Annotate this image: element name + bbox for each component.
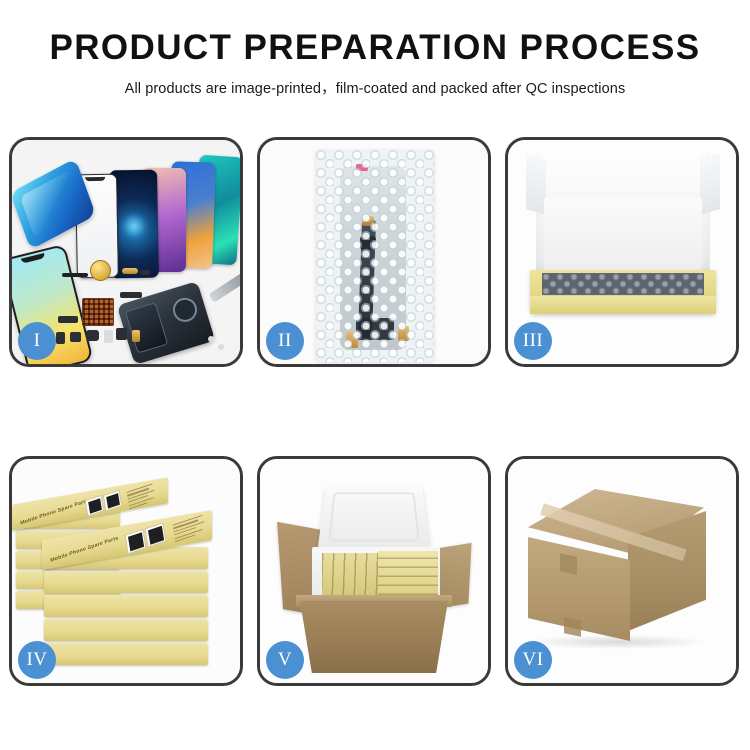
step-badge-1: I	[18, 322, 56, 360]
part-gold-flex	[122, 268, 138, 274]
stacked-box-r4	[44, 619, 208, 641]
carton-tab-lower	[564, 617, 581, 637]
part-sim-tray	[104, 330, 113, 343]
part-gold-pin	[132, 330, 140, 342]
bubble-wrap-bag	[316, 150, 434, 362]
part-power-flex	[58, 316, 78, 323]
box-spec-lines-back	[127, 482, 160, 511]
white-foam-pad	[544, 198, 702, 276]
step-3-image: III	[508, 140, 736, 364]
step-panel-2[interactable]: II	[257, 137, 491, 367]
step-panel-5[interactable]: V	[257, 456, 491, 686]
step-panel-1[interactable]: I	[9, 137, 243, 367]
step-panel-3[interactable]: III	[505, 137, 739, 367]
part-vibrator	[116, 328, 127, 340]
step-2-image: II	[260, 140, 488, 364]
carton-body	[300, 601, 448, 673]
part-chip-a	[56, 332, 65, 344]
box-artwork-c	[125, 529, 147, 554]
bubble-texture	[316, 150, 434, 362]
stacked-box-r3	[44, 595, 208, 617]
step-6-image: VI	[508, 459, 736, 683]
step-badge-4: IV	[18, 641, 56, 679]
tray-front-lip	[530, 296, 716, 314]
stacked-box-r5	[44, 643, 208, 665]
steps-grid: I II	[9, 137, 745, 686]
step-4-image: Mobile Phone Spare Parts Mobile Phone Sp…	[12, 459, 240, 683]
step-badge-5: V	[266, 641, 304, 679]
part-earpiece-mesh	[62, 273, 88, 277]
part-screw-a	[208, 336, 214, 342]
part-small-connector	[140, 270, 150, 275]
step-badge-3: III	[514, 322, 552, 360]
page-title: PRODUCT PREPARATION PROCESS	[0, 30, 750, 67]
foam-box-open-lid	[317, 486, 430, 551]
box-artwork-d	[145, 522, 167, 547]
part-screw-b	[218, 344, 224, 350]
page-subtitle: All products are image-printed，film-coat…	[0, 77, 750, 98]
step-badge-6: VI	[514, 641, 552, 679]
step-badge-2: II	[266, 322, 304, 360]
part-volume-flex	[120, 292, 142, 298]
part-camera-module	[86, 330, 99, 341]
carton-tab-upper	[560, 553, 577, 575]
part-chip-b	[70, 332, 81, 342]
step-panel-6[interactable]: VI	[505, 456, 739, 686]
box-spec-lines-front	[173, 513, 210, 544]
stacked-box-r2	[44, 571, 208, 593]
grey-bubble-wrap-contents	[542, 273, 704, 295]
connector-chip	[82, 298, 114, 326]
yellow-inner-box-tray	[530, 270, 716, 314]
step-5-image: V	[260, 459, 488, 683]
step-panel-4[interactable]: Mobile Phone Spare Parts Mobile Phone Sp…	[9, 456, 243, 686]
step-1-image: I	[12, 140, 240, 364]
header: PRODUCT PREPARATION PROCESS All products…	[0, 0, 750, 98]
box-artwork-b	[103, 490, 122, 512]
yellow-boxes-row-right	[378, 551, 438, 595]
speaker-component	[90, 260, 111, 281]
product-preparation-infographic: PRODUCT PREPARATION PROCESS All products…	[0, 0, 750, 750]
